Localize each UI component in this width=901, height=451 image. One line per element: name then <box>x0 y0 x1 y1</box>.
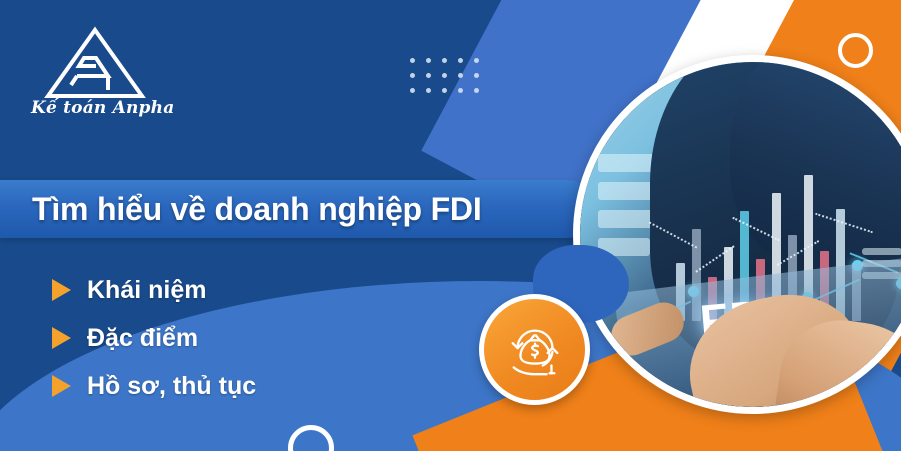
brand-logo[interactable]: Kế toán Anpha <box>30 24 160 124</box>
grid-dot <box>442 88 447 93</box>
list-item-label: Khái niệm <box>87 276 206 305</box>
grid-dot <box>474 88 479 93</box>
grid-dot <box>426 88 431 93</box>
grid-dot <box>426 73 431 78</box>
grid-dot <box>410 73 415 78</box>
grid-dot <box>474 73 479 78</box>
fdi-promo-banner: Kế toán Anpha Tìm hiểu về doanh nghiệp F… <box>0 0 901 451</box>
list-item-label: Đặc điểm <box>87 324 198 353</box>
money-bag-return-on-investment-icon <box>504 319 566 381</box>
grid-dot <box>474 58 479 63</box>
triangle-right-icon <box>52 375 71 397</box>
brand-name: Kế toán Anpha <box>31 98 159 118</box>
list-item[interactable]: Hồ sơ, thủ tục <box>52 362 256 410</box>
triangle-right-icon <box>52 279 71 301</box>
page-title: Tìm hiểu về doanh nghiệp FDI <box>32 191 482 228</box>
grid-dot <box>410 58 415 63</box>
grid-dot <box>458 58 463 63</box>
dot-grid-decoration <box>410 58 490 103</box>
hero-photo-circle: FDI <box>573 55 901 414</box>
grid-dot <box>426 58 431 63</box>
bullet-list: Khái niệm Đặc điểm Hồ sơ, thủ tục <box>52 266 256 410</box>
money-badge[interactable] <box>479 294 590 405</box>
grid-dot <box>458 88 463 93</box>
list-item[interactable]: Khái niệm <box>52 266 256 314</box>
grid-dot <box>458 73 463 78</box>
grid-dot <box>442 73 447 78</box>
photo-ui-bar <box>862 248 901 255</box>
grid-dot <box>442 58 447 63</box>
list-item[interactable]: Đặc điểm <box>52 314 256 362</box>
grid-dot <box>410 88 415 93</box>
hero-photo: FDI <box>580 62 901 407</box>
list-item-label: Hồ sơ, thủ tục <box>87 372 256 401</box>
triangle-monogram-logo-icon <box>30 24 160 100</box>
title-banner: Tìm hiểu về doanh nghiệp FDI <box>0 180 597 238</box>
triangle-right-icon <box>52 327 71 349</box>
